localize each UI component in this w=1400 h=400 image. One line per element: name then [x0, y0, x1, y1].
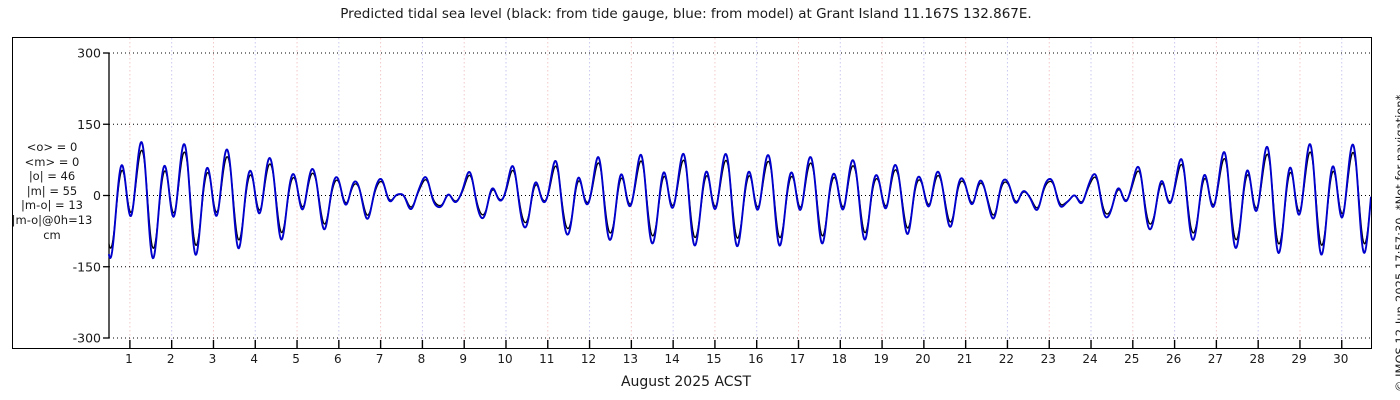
x-tick-label: 11	[539, 352, 554, 366]
x-tick-label: 22	[999, 352, 1014, 366]
x-tick-label: 1	[125, 352, 133, 366]
svg-text:-150: -150	[73, 259, 101, 274]
x-tick-label: 26	[1166, 352, 1181, 366]
tidal-plot: 3001500-150-300	[13, 38, 1371, 348]
x-axis-title: August 2025 ACST	[0, 374, 1372, 390]
stat-units: cm	[0, 228, 104, 243]
chart-title: Predicted tidal sea level (black: from t…	[0, 6, 1372, 22]
x-tick-label: 8	[418, 352, 426, 366]
x-tick-label: 14	[664, 352, 679, 366]
x-tick-label: 13	[623, 352, 638, 366]
stat-abs-diff: |m-o| = 13	[0, 198, 104, 213]
x-tick-label: 17	[790, 352, 805, 366]
svg-text:150: 150	[77, 117, 101, 132]
x-tick-label: 28	[1250, 352, 1265, 366]
x-tick-label: 18	[832, 352, 847, 366]
x-tick-label: 27	[1208, 352, 1223, 366]
x-tick-label: 16	[748, 352, 763, 366]
x-tick-label: 7	[376, 352, 384, 366]
statistics-panel: <o> = 0 <m> = 0 |o| = 46 |m| = 55 |m-o| …	[0, 140, 104, 242]
stat-abs-model: |m| = 55	[0, 184, 104, 199]
x-tick-label: 10	[497, 352, 512, 366]
x-tick-label: 20	[915, 352, 930, 366]
x-tick-label: 24	[1082, 352, 1097, 366]
stat-abs-obs: |o| = 46	[0, 169, 104, 184]
svg-text:-300: -300	[73, 331, 101, 346]
x-tick-label: 6	[334, 352, 342, 366]
stat-mean-obs: <o> = 0	[0, 140, 104, 155]
x-tick-label: 25	[1124, 352, 1139, 366]
svg-text:300: 300	[77, 46, 101, 61]
stat-abs-diff-0h: |m-o|@0h=13	[0, 213, 104, 228]
x-tick-label: 4	[250, 352, 258, 366]
x-tick-label: 19	[873, 352, 888, 366]
x-tick-label: 29	[1291, 352, 1306, 366]
x-tick-label: 9	[459, 352, 467, 366]
stat-mean-model: <m> = 0	[0, 155, 104, 170]
copyright-notice: © IMOS 12-Jun-2025 17:57:30. *Not for na…	[1378, 0, 1398, 400]
copyright-text: © IMOS 12-Jun-2025 17:57:30. *Not for na…	[1393, 95, 1400, 392]
x-tick-label: 21	[957, 352, 972, 366]
x-tick-label: 12	[581, 352, 596, 366]
x-tick-label: 23	[1041, 352, 1056, 366]
plot-frame: 3001500-150-300	[12, 37, 1372, 349]
x-tick-label: 5	[292, 352, 300, 366]
x-tick-label: 30	[1333, 352, 1348, 366]
x-axis-tick-labels: 1234567891011121314151617181920212223242…	[0, 352, 1400, 372]
x-tick-label: 15	[706, 352, 721, 366]
x-tick-label: 3	[209, 352, 217, 366]
x-tick-label: 2	[167, 352, 175, 366]
